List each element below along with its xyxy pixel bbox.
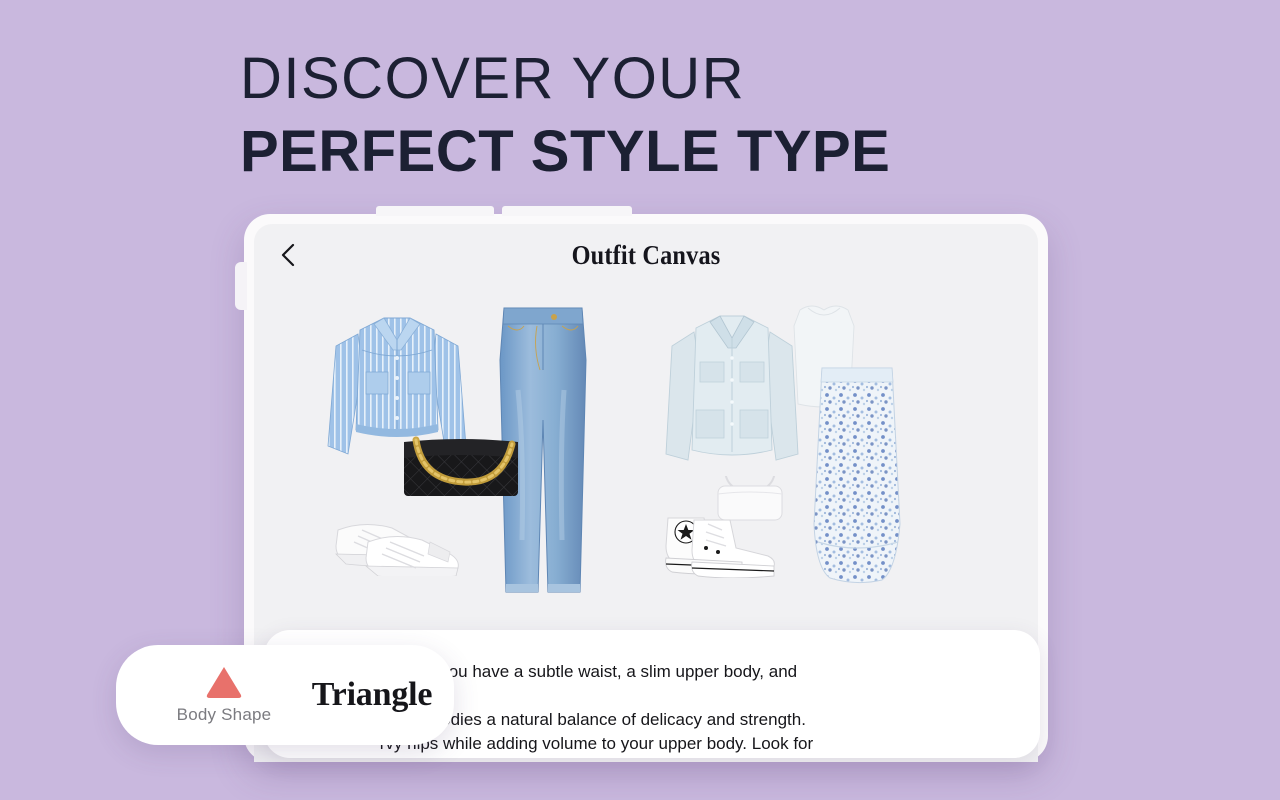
outfit-1[interactable] — [254, 286, 646, 644]
headline-line-1: DISCOVER YOUR — [240, 44, 1140, 114]
outfit-2[interactable] — [646, 286, 1038, 644]
body-shape-value: Triangle — [292, 645, 452, 745]
page-title: DISCOVER YOUR PERFECT STYLE TYPE — [240, 44, 1140, 190]
body-shape-card[interactable]: Body Shape Triangle — [116, 645, 454, 745]
app-bar: Outfit Canvas — [254, 224, 1038, 286]
blue-floral-midi-skirt[interactable] — [810, 364, 904, 586]
poster-stage: DISCOVER YOUR PERFECT STYLE TYPE Outfit … — [0, 0, 1280, 800]
tablet-side-button[interactable] — [235, 262, 247, 310]
tablet-top-button-2[interactable] — [502, 206, 632, 216]
white-platform-high-top-sneakers[interactable] — [664, 512, 786, 578]
headline-line-2: PERFECT STYLE TYPE — [240, 114, 1140, 190]
white-leather-sneakers[interactable] — [332, 514, 472, 576]
outfit-canvas — [254, 286, 1038, 644]
body-shape-label: Body Shape — [177, 705, 272, 725]
black-quilted-chain-bag[interactable] — [402, 436, 520, 498]
light-denim-jacket[interactable] — [662, 304, 802, 494]
triangle-icon — [204, 665, 244, 699]
app-bar-title: Outfit Canvas — [293, 240, 999, 271]
body-shape-summary: Body Shape — [154, 645, 294, 745]
tablet-top-button-1[interactable] — [376, 206, 494, 216]
